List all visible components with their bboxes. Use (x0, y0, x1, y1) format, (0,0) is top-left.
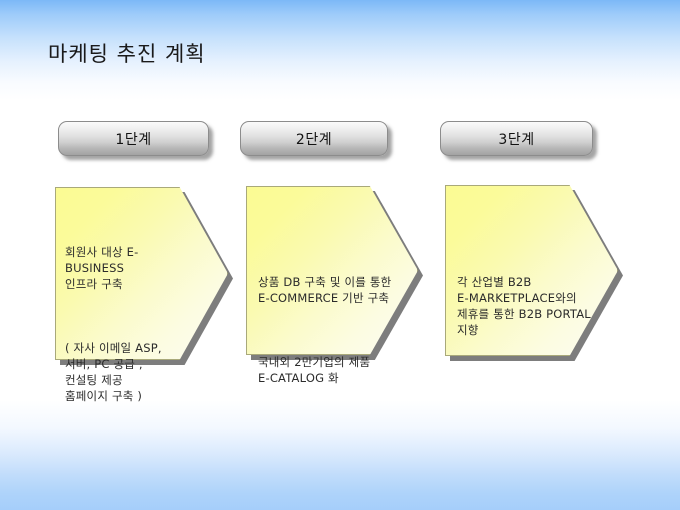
chevron-paragraph: 국내외 2만기업의 제품 E-CATALOG 화 (258, 354, 391, 386)
stage-button-1-label: 1단계 (115, 129, 151, 149)
slide-canvas: 마케팅 추진 계획 1단계 회원사 대상 E- BUSINESS 인프라 구축 … (0, 0, 680, 510)
stage-chevron-2[interactable]: 상품 DB 구축 및 이를 통한 E-COMMERCE 기반 구축 국내외 2만… (246, 186, 418, 355)
stage-button-2[interactable]: 2단계 (240, 121, 388, 156)
stage-chevron-3-text: 각 산업별 B2B E-MARKETPLACE와의 제휴를 통한 B2B POR… (457, 242, 591, 370)
stage-chevron-1[interactable]: 회원사 대상 E- BUSINESS 인프라 구축 ( 자사 이메일 ASP, … (55, 187, 228, 360)
chevron-paragraph: ( 자사 이메일 ASP, 서버, PC 공급 , 컨설팅 제공 홈페이지 구축… (65, 340, 162, 404)
stage-button-2-label: 2단계 (296, 129, 332, 149)
stage-button-1[interactable]: 1단계 (58, 121, 209, 156)
stage-button-3-label: 3단계 (498, 129, 534, 149)
chevron-paragraph: 회원사 대상 E- BUSINESS 인프라 구축 (65, 244, 162, 292)
chevron-paragraph: 상품 DB 구축 및 이를 통한 E-COMMERCE 기반 구축 (258, 274, 391, 306)
stage-chevron-1-text: 회원사 대상 E- BUSINESS 인프라 구축 ( 자사 이메일 ASP, … (65, 212, 162, 436)
chevron-paragraph: 각 산업별 B2B E-MARKETPLACE와의 제휴를 통한 B2B POR… (457, 274, 591, 338)
page-title: 마케팅 추진 계획 (48, 38, 206, 68)
stage-chevron-2-text: 상품 DB 구축 및 이를 통한 E-COMMERCE 기반 구축 국내외 2만… (258, 242, 391, 418)
stage-button-3[interactable]: 3단계 (440, 121, 593, 156)
stage-chevron-3[interactable]: 각 산업별 B2B E-MARKETPLACE와의 제휴를 통한 B2B POR… (445, 185, 618, 356)
